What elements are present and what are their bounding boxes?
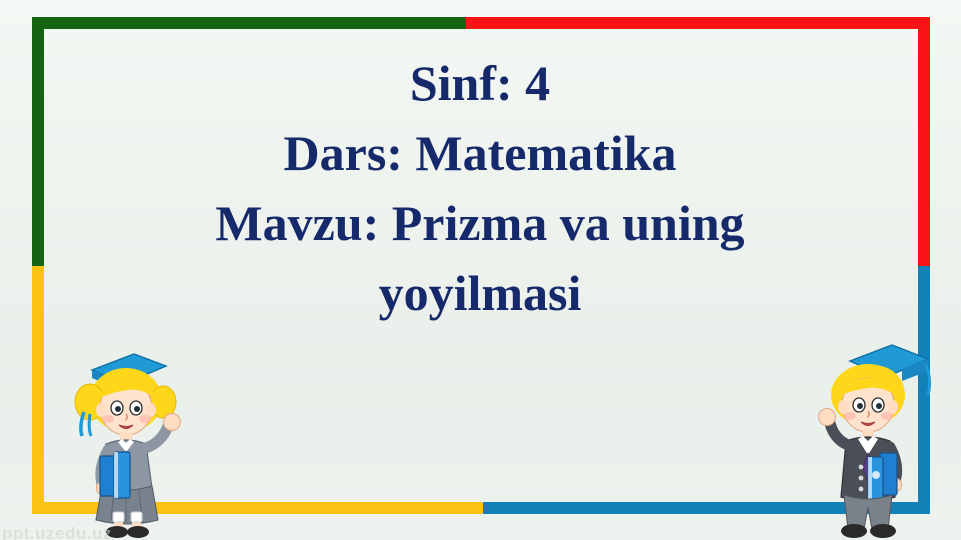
- slide-title: Sinf: 4 Dars: Matematika Mavzu: Prizma v…: [120, 48, 840, 328]
- watermark-text: ppt.uzedu.uz: [2, 524, 112, 540]
- schoolgirl-illustration: [62, 340, 194, 540]
- title-line-topic-1: Mavzu: Prizma va uning: [120, 188, 840, 258]
- frame-border-top-red: [466, 17, 930, 29]
- title-line-class: Sinf: 4: [120, 48, 840, 118]
- schoolboy-illustration: [806, 335, 938, 540]
- title-line-subject: Dars: Matematika: [120, 118, 840, 188]
- frame-border-top-green: [32, 17, 466, 29]
- frame-border-left-yellow: [32, 266, 44, 514]
- title-line-topic-2: yoyilmasi: [120, 258, 840, 328]
- presentation-slide: Sinf: 4 Dars: Matematika Mavzu: Prizma v…: [0, 0, 961, 540]
- frame-border-right-red: [918, 17, 930, 266]
- frame-border-left-green: [32, 17, 44, 266]
